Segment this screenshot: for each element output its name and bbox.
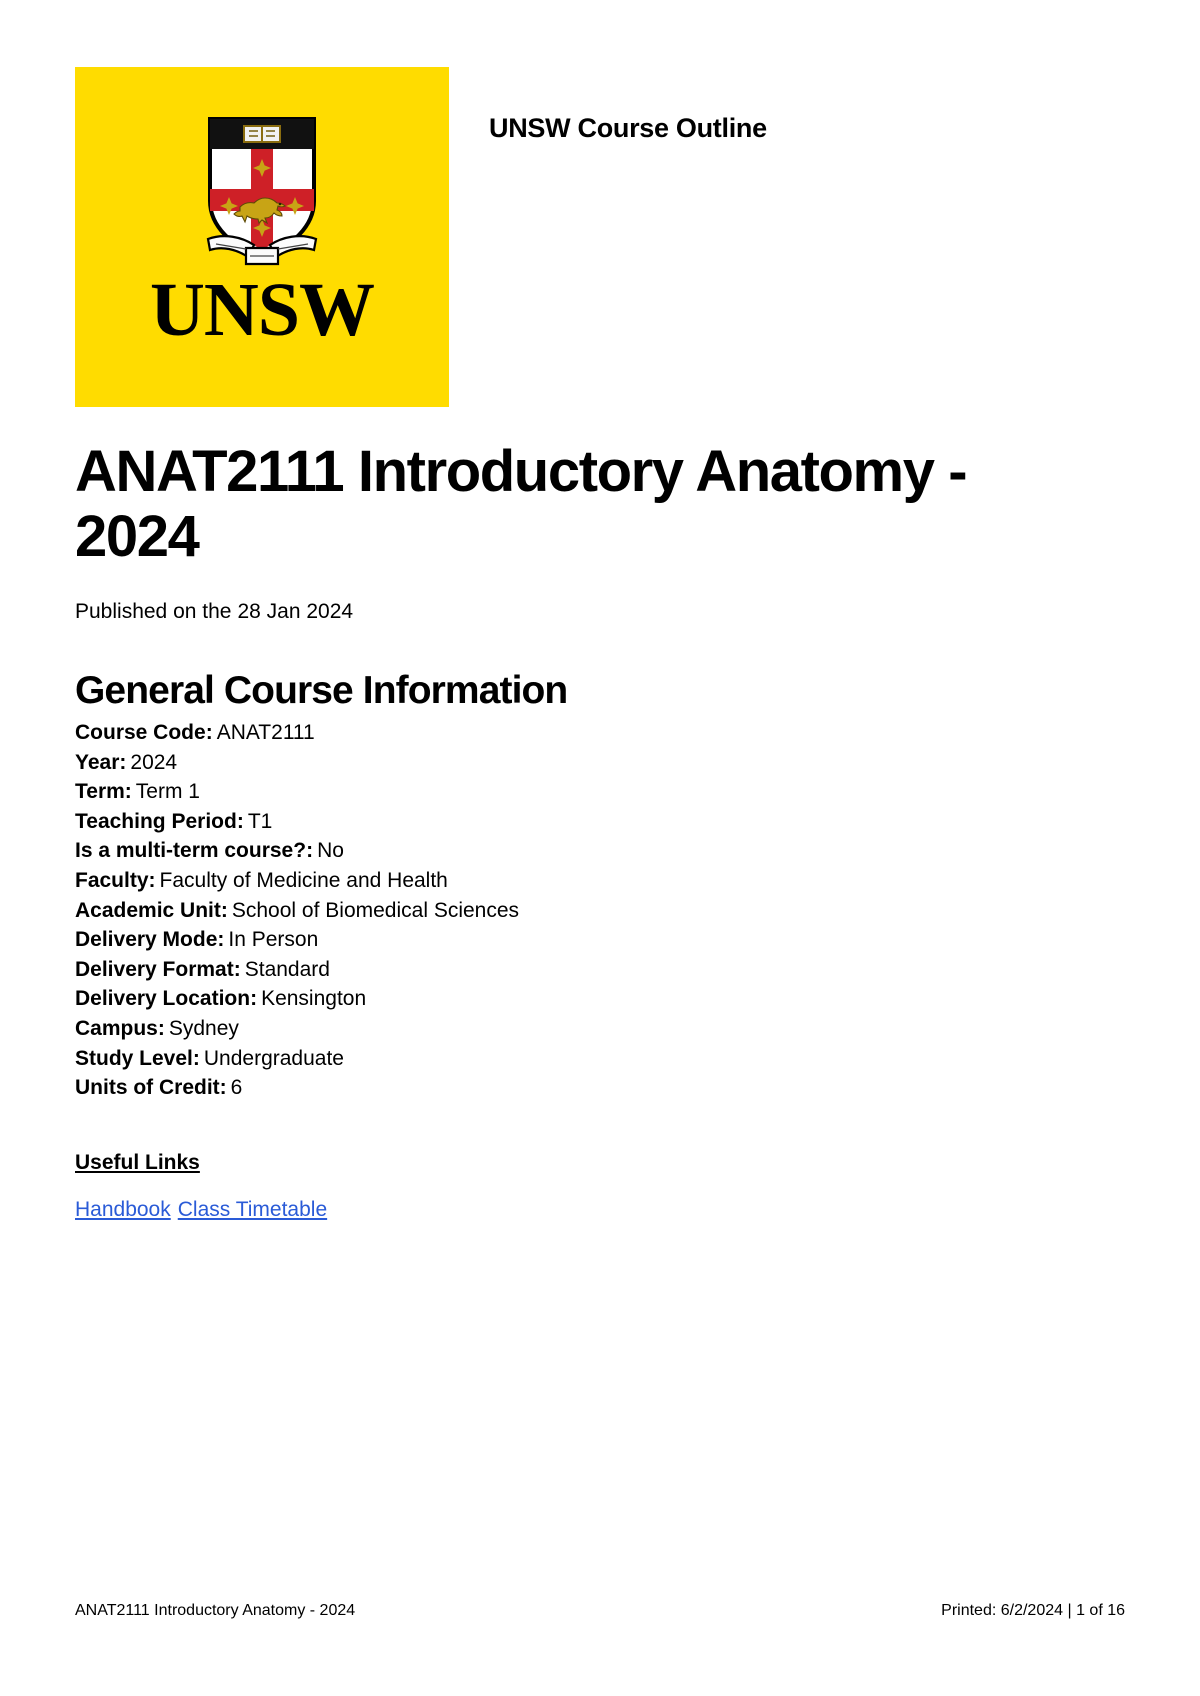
info-separator: : <box>125 780 132 803</box>
info-value: ANAT2111 <box>217 721 315 744</box>
info-row: Is a multi-term course?:No <box>75 836 1075 866</box>
unsw-logo-block: UNSW <box>75 67 449 407</box>
section-heading-general-course-information: General Course Information <box>75 669 1075 714</box>
info-value: School of Biomedical Sciences <box>232 899 519 922</box>
info-row: Academic Unit:School of Biomedical Scien… <box>75 896 1075 926</box>
info-label: Year <box>75 751 119 774</box>
info-row: Term:Term 1 <box>75 777 1075 807</box>
info-label: Delivery Mode <box>75 928 217 951</box>
class-timetable-link[interactable]: Class Timetable <box>178 1198 327 1221</box>
course-outline-page: UNSW UNSW Course Outline ANAT2111 Introd… <box>0 0 1200 1696</box>
info-label: Faculty <box>75 869 149 892</box>
info-value: Kensington <box>261 987 366 1010</box>
info-label: Term <box>75 780 125 803</box>
info-row: Delivery Location:Kensington <box>75 984 1075 1014</box>
page-footer: ANAT2111 Introductory Anatomy - 2024 Pri… <box>75 1602 1125 1620</box>
document-body: ANAT2111 Introductory Anatomy - 2024 Pub… <box>75 440 1075 1223</box>
unsw-wordmark: UNSW <box>150 272 374 348</box>
info-value: Term 1 <box>136 780 200 803</box>
info-label: Delivery Format <box>75 958 234 981</box>
info-separator: : <box>306 839 313 862</box>
info-row: Year:2024 <box>75 748 1075 778</box>
info-separator: : <box>221 899 228 922</box>
info-row: Study Level:Undergraduate <box>75 1044 1075 1074</box>
info-separator: : <box>158 1017 165 1040</box>
info-row: Course Code:ANAT2111 <box>75 718 1075 748</box>
info-label: Campus <box>75 1017 158 1040</box>
info-separator: : <box>119 751 126 774</box>
info-label: Study Level <box>75 1047 193 1070</box>
info-label: Is a multi-term course? <box>75 839 306 862</box>
info-separator: : <box>237 810 244 833</box>
info-value: In Person <box>228 928 318 951</box>
info-label: Teaching Period <box>75 810 237 833</box>
info-value: 2024 <box>130 751 177 774</box>
info-separator: : <box>193 1047 200 1070</box>
document-header: UNSW UNSW Course Outline <box>75 67 1120 407</box>
info-separator: : <box>250 987 257 1010</box>
header-title: UNSW Course Outline <box>489 113 767 144</box>
info-separator: : <box>149 869 156 892</box>
footer-document-name: ANAT2111 Introductory Anatomy - 2024 <box>75 1602 355 1620</box>
useful-links-row: HandbookClass Timetable <box>75 1196 1075 1223</box>
info-separator: : <box>234 958 241 981</box>
useful-links-heading: Useful Links <box>75 1151 200 1175</box>
info-separator: : <box>217 928 224 951</box>
info-row: Delivery Mode:In Person <box>75 925 1075 955</box>
info-row: Campus:Sydney <box>75 1014 1075 1044</box>
info-value: T1 <box>248 810 273 833</box>
info-value: Undergraduate <box>204 1047 344 1070</box>
published-label: Published on the <box>75 600 231 623</box>
published-line: Published on the28 Jan 2024 <box>75 598 1075 625</box>
info-separator: : <box>220 1076 227 1099</box>
info-label: Units of Credit <box>75 1076 220 1099</box>
info-separator: : <box>206 721 213 744</box>
info-row: Units of Credit:6 <box>75 1073 1075 1103</box>
info-row: Teaching Period:T1 <box>75 807 1075 837</box>
info-row: Delivery Format:Standard <box>75 955 1075 985</box>
info-label: Course Code <box>75 721 206 744</box>
info-label: Delivery Location <box>75 987 250 1010</box>
unsw-crest-icon <box>202 115 322 267</box>
info-value: Standard <box>245 958 330 981</box>
info-value: 6 <box>231 1076 243 1099</box>
info-label: Academic Unit <box>75 899 221 922</box>
info-row: Faculty:Faculty of Medicine and Health <box>75 866 1075 896</box>
page-title: ANAT2111 Introductory Anatomy - 2024 <box>75 440 1005 570</box>
info-value: Sydney <box>169 1017 239 1040</box>
handbook-link[interactable]: Handbook <box>75 1198 171 1221</box>
footer-print-info: Printed: 6/2/2024 | 1 of 16 <box>941 1602 1125 1620</box>
info-value: No <box>317 839 344 862</box>
published-date: 28 Jan 2024 <box>237 600 353 623</box>
info-value: Faculty of Medicine and Health <box>160 869 448 892</box>
general-course-information-list: Course Code:ANAT2111 Year:2024 Term:Term… <box>75 718 1075 1103</box>
